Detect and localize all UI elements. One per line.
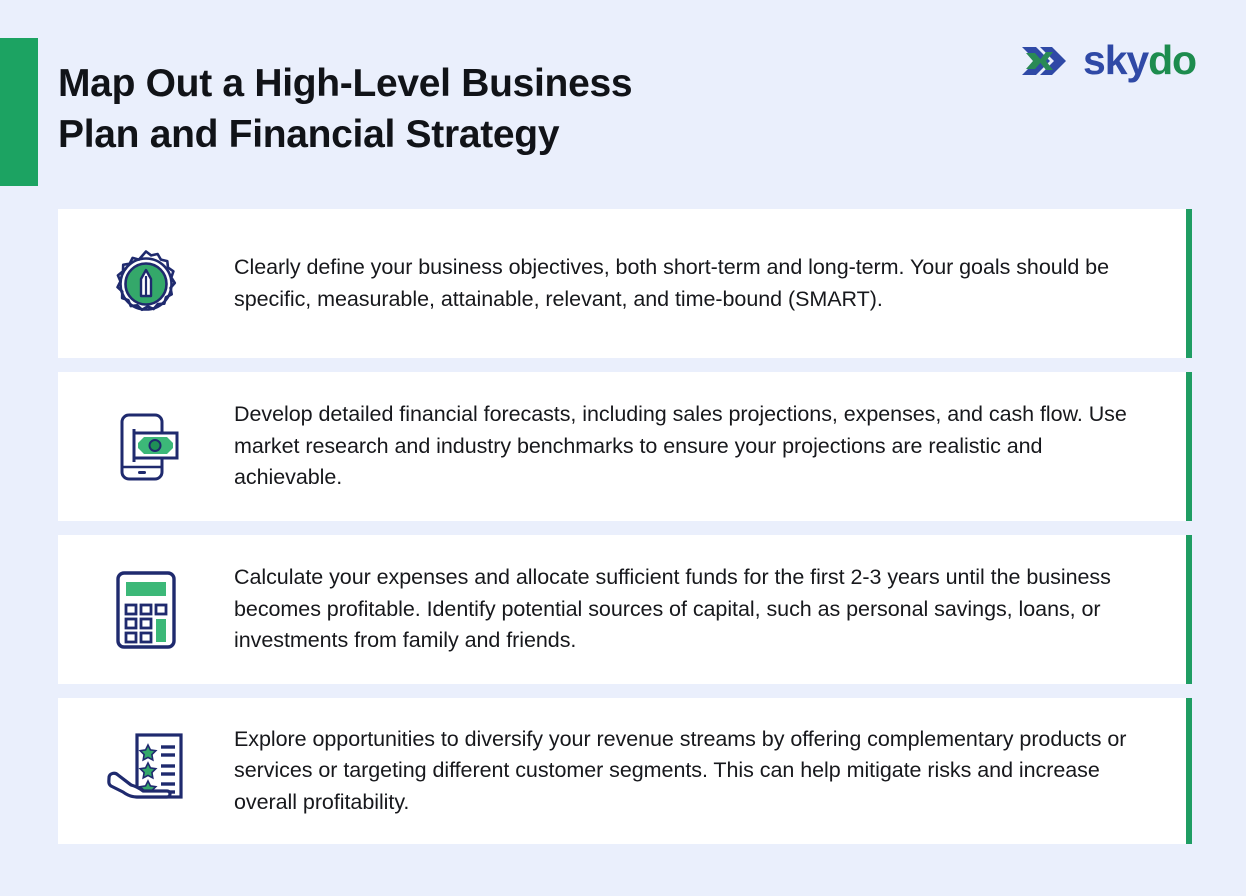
double-chevron-icon (1020, 41, 1074, 81)
tips-card-list: Clearly define your business objectives,… (58, 209, 1192, 844)
title-accent-bar (0, 38, 38, 186)
infographic-page: Map Out a High-Level Business Plan and F… (0, 0, 1246, 896)
target-badge-pencil-icon (58, 246, 234, 322)
logo-wordmark: skydo (1083, 40, 1196, 81)
tip-card-3: Calculate your expenses and allocate suf… (58, 535, 1192, 684)
skydo-logo: skydo (1020, 40, 1196, 81)
tip-card-3-text: Calculate your expenses and allocate suf… (234, 562, 1152, 657)
page-title-line-2: Plan and Financial Strategy (58, 109, 818, 160)
tip-card-2: Develop detailed financial forecasts, in… (58, 372, 1192, 521)
page-title: Map Out a High-Level Business Plan and F… (58, 58, 818, 161)
page-title-line-1: Map Out a High-Level Business (58, 58, 818, 109)
logo-word-sky: sky (1083, 37, 1148, 83)
tip-card-4-text: Explore opportunities to diversify your … (234, 724, 1152, 819)
logo-word-do: do (1148, 37, 1196, 83)
tip-card-2-text: Develop detailed financial forecasts, in… (234, 399, 1152, 494)
tip-card-1-text: Clearly define your business objectives,… (234, 252, 1152, 315)
mobile-payment-cash-icon (58, 407, 234, 487)
tip-card-4: Explore opportunities to diversify your … (58, 698, 1192, 844)
calculator-icon (58, 569, 234, 651)
tip-card-1: Clearly define your business objectives,… (58, 209, 1192, 358)
hand-holding-checklist-icon (58, 730, 234, 812)
